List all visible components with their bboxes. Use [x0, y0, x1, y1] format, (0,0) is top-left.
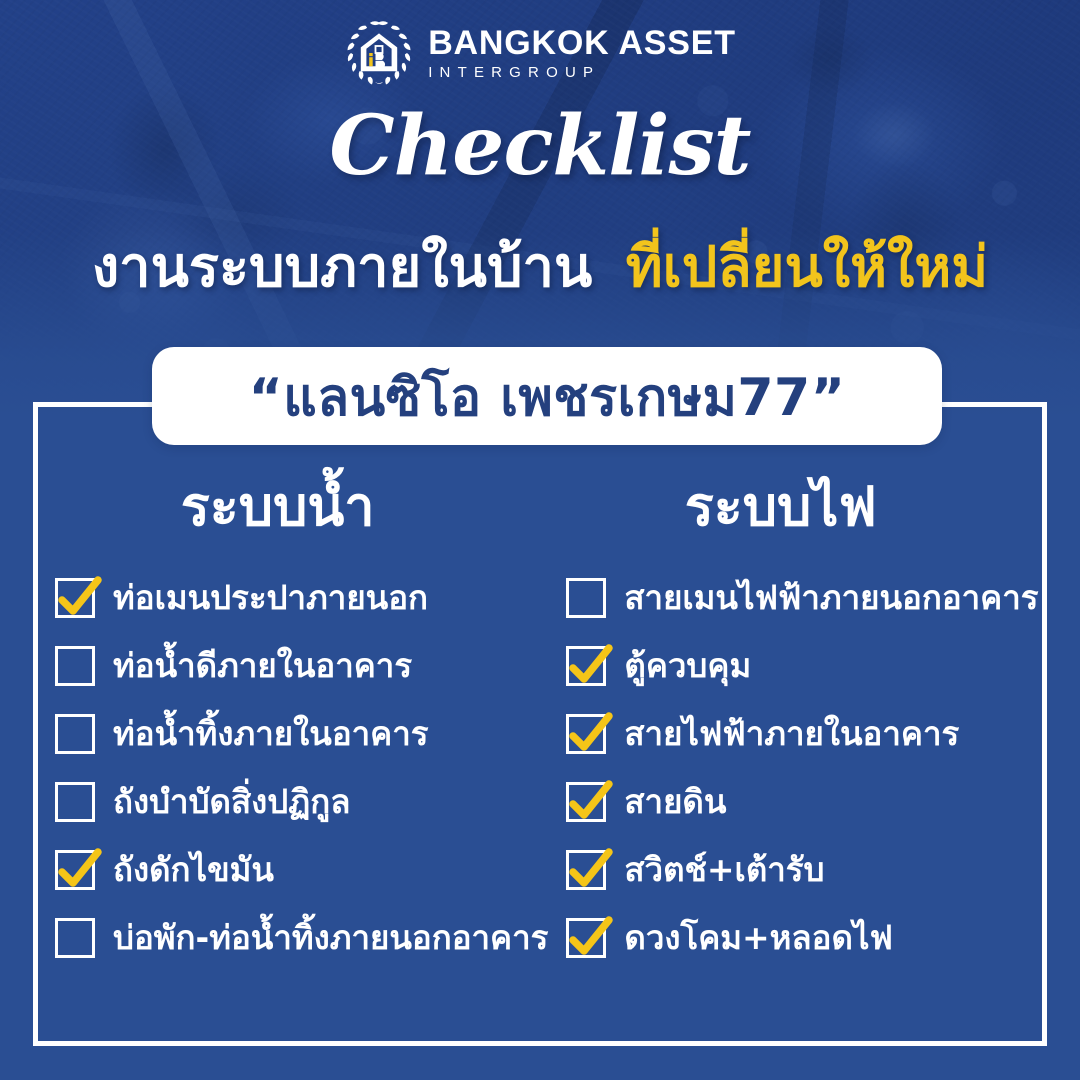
check-mark-icon: [53, 844, 105, 896]
list-item[interactable]: ถังดักไขมัน: [55, 850, 548, 890]
checkbox-icon[interactable]: [566, 918, 606, 958]
list-item-label: สายไฟฟ้าภายในอาคาร: [624, 717, 959, 752]
brand-logo-text: BANGKOK ASSET INTERGROUP: [428, 26, 736, 80]
list-item-label: สายเมนไฟฟ้าภายนอกอาคาร: [624, 581, 1038, 616]
page-title: Checklist: [0, 98, 1080, 194]
list-item-label: ท่อน้ำทิ้งภายในอาคาร: [113, 717, 429, 752]
brand-logo: BANGKOK ASSET INTERGROUP: [0, 18, 1080, 88]
list-item-label: ท่อน้ำดีภายในอาคาร: [113, 649, 412, 684]
checkbox-icon[interactable]: [55, 578, 95, 618]
list-item[interactable]: ท่อเมนประปาภายนอก: [55, 578, 548, 618]
page-subtitle: งานระบบภายในบ้าน ที่เปลี่ยนให้ใหม่: [0, 222, 1080, 311]
list-item[interactable]: สายดิน: [566, 782, 1047, 822]
brand-tagline: INTERGROUP: [428, 65, 736, 80]
checklist-column-water: ระบบน้ำ ท่อเมนประปาภายนอก ท่อน้ำดีภายในอ…: [33, 402, 548, 1046]
list-item[interactable]: สวิตช์+เต้ารับ: [566, 850, 1047, 890]
check-mark-icon: [564, 844, 616, 896]
subtitle-white-text: งานระบบภายในบ้าน: [92, 235, 592, 300]
house-laurel-logo-icon: [344, 18, 414, 88]
list-item-label: บ่อพัก-ท่อน้ำทิ้งภายนอกอาคาร: [113, 921, 548, 956]
list-item-label: ถังดักไขมัน: [113, 853, 274, 888]
project-name-banner: “แลนซิโอ เพชรเกษม77”: [152, 347, 942, 445]
check-mark-icon: [53, 572, 105, 624]
checklist-poster: BANGKOK ASSET INTERGROUP Checklist งานระ…: [0, 0, 1080, 1080]
project-name-text: “แลนซิโอ เพชรเกษม77”: [249, 355, 846, 438]
checkbox-icon[interactable]: [55, 850, 95, 890]
list-item-label: ถังบำบัดสิ่งปฏิกูล: [113, 785, 351, 820]
list-item[interactable]: สายเมนไฟฟ้าภายนอกอาคาร: [566, 578, 1047, 618]
list-item-label: ท่อเมนประปาภายนอก: [113, 581, 428, 616]
list-item-label: ดวงโคม+หลอดไฟ: [624, 921, 892, 956]
list-item[interactable]: บ่อพัก-ท่อน้ำทิ้งภายนอกอาคาร: [55, 918, 548, 958]
checkbox-icon[interactable]: [566, 782, 606, 822]
checkbox-icon[interactable]: [566, 578, 606, 618]
column-title-water: ระบบน้ำ: [55, 480, 548, 534]
check-mark-icon: [564, 912, 616, 964]
list-item[interactable]: สายไฟฟ้าภายในอาคาร: [566, 714, 1047, 754]
subtitle-highlight-text: ที่เปลี่ยนให้ใหม่: [626, 235, 988, 300]
checkbox-icon[interactable]: [55, 646, 95, 686]
checklist-column-electrical: ระบบไฟ สายเมนไฟฟ้าภายนอกอาคาร ตู้ควบคุม: [548, 402, 1047, 1046]
checkbox-icon[interactable]: [566, 714, 606, 754]
list-item-label: ตู้ควบคุม: [624, 649, 751, 684]
list-item[interactable]: ดวงโคม+หลอดไฟ: [566, 918, 1047, 958]
brand-name: BANGKOK ASSET: [428, 26, 736, 60]
checkbox-icon[interactable]: [55, 782, 95, 822]
checkbox-icon[interactable]: [566, 850, 606, 890]
checkbox-icon[interactable]: [566, 646, 606, 686]
list-item[interactable]: ตู้ควบคุม: [566, 646, 1047, 686]
check-mark-icon: [564, 640, 616, 692]
list-item-label: สายดิน: [624, 785, 726, 820]
checkbox-icon[interactable]: [55, 714, 95, 754]
list-item[interactable]: ท่อน้ำดีภายในอาคาร: [55, 646, 548, 686]
checklist-items-water: ท่อเมนประปาภายนอก ท่อน้ำดีภายในอาคาร ท่อ…: [55, 578, 548, 958]
check-mark-icon: [564, 776, 616, 828]
list-item-label: สวิตช์+เต้ารับ: [624, 853, 824, 888]
check-mark-icon: [564, 708, 616, 760]
column-title-electrical: ระบบไฟ: [566, 480, 1047, 534]
checklist-columns: ระบบน้ำ ท่อเมนประปาภายนอก ท่อน้ำดีภายในอ…: [33, 402, 1047, 1046]
checklist-items-electrical: สายเมนไฟฟ้าภายนอกอาคาร ตู้ควบคุม สายไฟฟ้…: [566, 578, 1047, 958]
list-item[interactable]: ถังบำบัดสิ่งปฏิกูล: [55, 782, 548, 822]
checkbox-icon[interactable]: [55, 918, 95, 958]
list-item[interactable]: ท่อน้ำทิ้งภายในอาคาร: [55, 714, 548, 754]
